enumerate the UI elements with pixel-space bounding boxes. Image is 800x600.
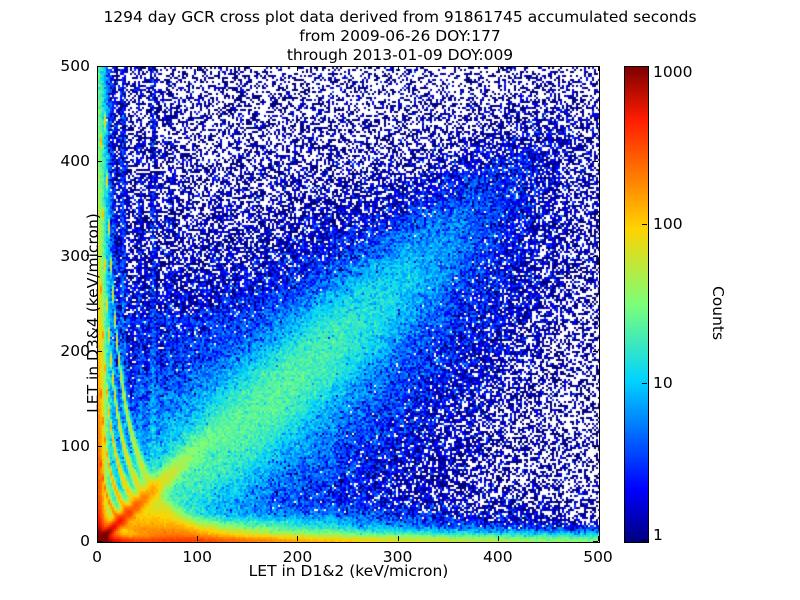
colorbar-tick-mark [642,540,647,541]
x-tick-mark [297,536,298,541]
colorbar-gradient [625,67,648,542]
colorbar-tick-mark [642,224,647,225]
y-tick-mark [97,66,102,67]
x-tick-mark-top [297,66,298,71]
chart-title-line-1: 1294 day GCR cross plot data derived fro… [0,8,800,27]
colorbar-tick-mark [642,383,647,384]
chart-title: 1294 day GCR cross plot data derived fro… [0,8,800,65]
x-tick-mark-top [498,66,499,71]
density-scatter-plot [98,67,599,542]
plot-area [97,66,600,543]
y-tick-label: 400 [35,152,90,170]
colorbar-tick-label: 100 [653,215,683,233]
y-tick-label: 200 [35,342,90,360]
colorbar-label: Counts [709,203,727,423]
y-tick-mark-right [593,256,598,257]
y-tick-mark-right [593,66,598,67]
y-tick-mark-right [593,446,598,447]
colorbar-tick-mark [642,66,647,67]
y-tick-mark-right [593,161,598,162]
x-tick-mark-top [197,66,198,71]
y-tick-label: 300 [35,247,90,265]
y-tick-label: 500 [35,57,90,75]
x-tick-mark [398,536,399,541]
y-tick-mark-right [593,351,598,352]
colorbar-tick-label: 1 [653,526,663,544]
colorbar [624,66,649,543]
chart-title-line-2: from 2009-06-26 DOY:177 [0,27,800,46]
x-tick-mark-top [398,66,399,71]
colorbar-tick-label: 1000 [653,63,692,81]
y-tick-mark [97,541,102,542]
y-tick-label: 100 [35,437,90,455]
x-tick-mark [598,536,599,541]
y-tick-mark-right [593,541,598,542]
figure-canvas: 1294 day GCR cross plot data derived fro… [0,0,800,600]
x-tick-mark [197,536,198,541]
x-tick-mark-top [598,66,599,71]
y-axis-label: LET in D3&4 (keV/micron) [84,143,102,483]
y-tick-label: 0 [35,532,90,550]
x-tick-mark [498,536,499,541]
x-axis-label: LET in D1&2 (keV/micron) [97,562,600,580]
colorbar-tick-label: 10 [653,374,673,392]
